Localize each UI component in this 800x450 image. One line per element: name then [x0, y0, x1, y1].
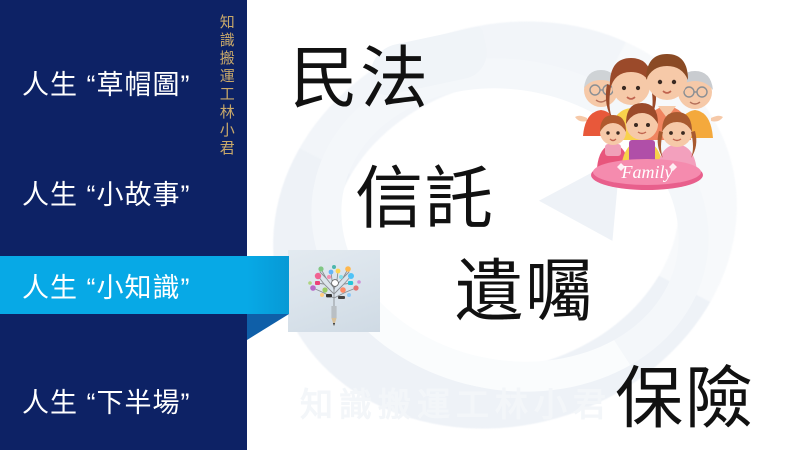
family-banner-label: Family — [621, 162, 673, 182]
sidebar-item-label: 人生 “下半場” — [22, 381, 190, 420]
family-cartoon-illustration: Family — [565, 28, 730, 193]
keyword-civil-law: 民法 — [290, 45, 430, 113]
sidebar-item-little-story[interactable]: 人生 “小故事” — [0, 168, 247, 216]
sidebar-item-second-half-of-life[interactable]: 人生 “下半場” — [0, 376, 247, 424]
sidebar-item-straw-hat-chart[interactable]: 人生 “草帽圖” — [0, 58, 247, 106]
knowledge-tree-pencil-image — [288, 250, 380, 332]
background-watermark-text: 知識搬運工林小君 — [300, 378, 612, 426]
author-byline-vertical: 知識搬運工林小君 — [218, 14, 234, 158]
keyword-trust: 信託 — [355, 165, 495, 233]
keyword-will: 遺囑 — [455, 258, 595, 326]
keyword-insurance: 保險 — [615, 365, 755, 433]
active-item-fold-corner-icon — [247, 314, 289, 340]
sidebar-item-label: 人生 “草帽圖” — [22, 63, 190, 102]
sidebar-item-label: 人生 “小故事” — [22, 173, 190, 212]
left-sidebar: 人生 “草帽圖” 人生 “小故事” 人生 “下半場” 知識搬運工林小君 — [0, 0, 247, 450]
family-banner: Family — [591, 159, 703, 190]
sidebar-active-item-wrapper: 人生 “小知識” — [0, 256, 300, 318]
slide-canvas: 知識搬運工林小君 民法 信託 遺囑 保險 — [0, 0, 800, 450]
sidebar-item-label: 人生 “小知識” — [22, 266, 190, 305]
sidebar-item-little-knowledge-active[interactable]: 人生 “小知識” — [0, 256, 289, 314]
